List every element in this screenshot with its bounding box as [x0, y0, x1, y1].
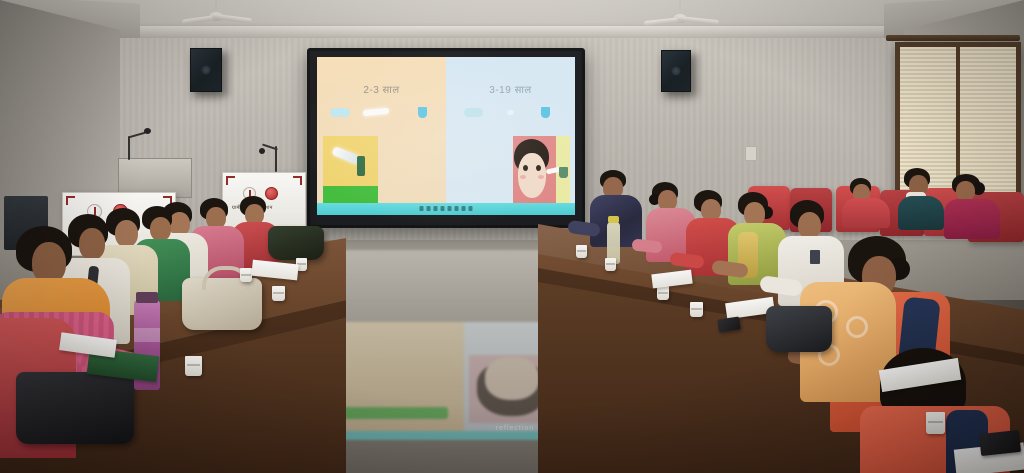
microphone-stand	[128, 136, 130, 160]
slide-age-label-left: 2-3 साल	[317, 82, 446, 96]
head	[798, 212, 821, 239]
paper-cup[interactable]	[605, 258, 616, 271]
paper-cup[interactable]	[240, 268, 252, 282]
paper-cup[interactable]	[272, 286, 285, 301]
paper-cup[interactable]	[185, 356, 202, 376]
paper-cup[interactable]	[657, 286, 669, 300]
curtain-rail	[886, 35, 1020, 41]
wall-speaker-left	[190, 48, 222, 92]
red-circular-logo	[265, 187, 278, 200]
rinse-cup-icon	[418, 107, 427, 118]
slide-age-label-right: 3-19 साल	[446, 82, 575, 96]
head	[79, 228, 105, 260]
paper-cup[interactable]	[926, 412, 945, 434]
torso	[842, 198, 890, 228]
bottle-cap[interactable]	[608, 216, 619, 223]
handbag-dark-small[interactable]	[268, 226, 324, 260]
mobile-phone[interactable]	[979, 430, 1021, 456]
taskbar-tray-icons[interactable]	[420, 206, 473, 211]
handbag-black[interactable]	[16, 372, 134, 444]
slide-illustration-right	[513, 136, 570, 203]
conference-room-photo: reflection 2-3 साल	[0, 0, 1024, 473]
bottle-label	[134, 328, 160, 342]
torso	[944, 199, 1000, 239]
microphone-head	[144, 128, 151, 134]
toothpaste-tube-icon	[330, 108, 350, 117]
head	[115, 220, 138, 247]
toothpaste-tube-icon	[464, 108, 483, 117]
id-badge	[810, 250, 820, 264]
head	[150, 217, 171, 241]
windows-taskbar[interactable]	[317, 203, 575, 215]
handbag[interactable]	[766, 306, 832, 352]
bottle-cap[interactable]	[136, 292, 158, 303]
slide-icon-row-left	[317, 105, 446, 121]
projected-slide: 2-3 साल 3-19 साल	[317, 57, 575, 215]
slide-panel-right: 3-19 साल	[446, 57, 575, 203]
slide-panel-left: 2-3 साल	[317, 57, 446, 203]
toothbrush-icon	[363, 108, 389, 117]
speaker-cone-icon	[202, 66, 211, 75]
slide-icon-row-right	[446, 105, 575, 121]
wall-switch-plate[interactable]	[745, 146, 757, 161]
paper-cup[interactable]	[576, 245, 587, 258]
paper-cup[interactable]	[690, 302, 703, 317]
ceiling-fan-right	[650, 0, 710, 28]
toothbrush-icon	[507, 110, 514, 115]
torso	[898, 196, 944, 230]
head	[956, 181, 975, 201]
wall-speaker-right	[661, 50, 691, 92]
projection-screen[interactable]: 2-3 साल 3-19 साल	[307, 48, 585, 228]
rinse-cup-icon	[541, 107, 550, 118]
slide-illustration-left	[323, 136, 377, 203]
ceiling-fan-left	[186, 0, 246, 28]
fabric-motif	[846, 316, 868, 338]
speaker-cone-icon	[672, 67, 681, 76]
microphone-head-2	[259, 148, 265, 154]
